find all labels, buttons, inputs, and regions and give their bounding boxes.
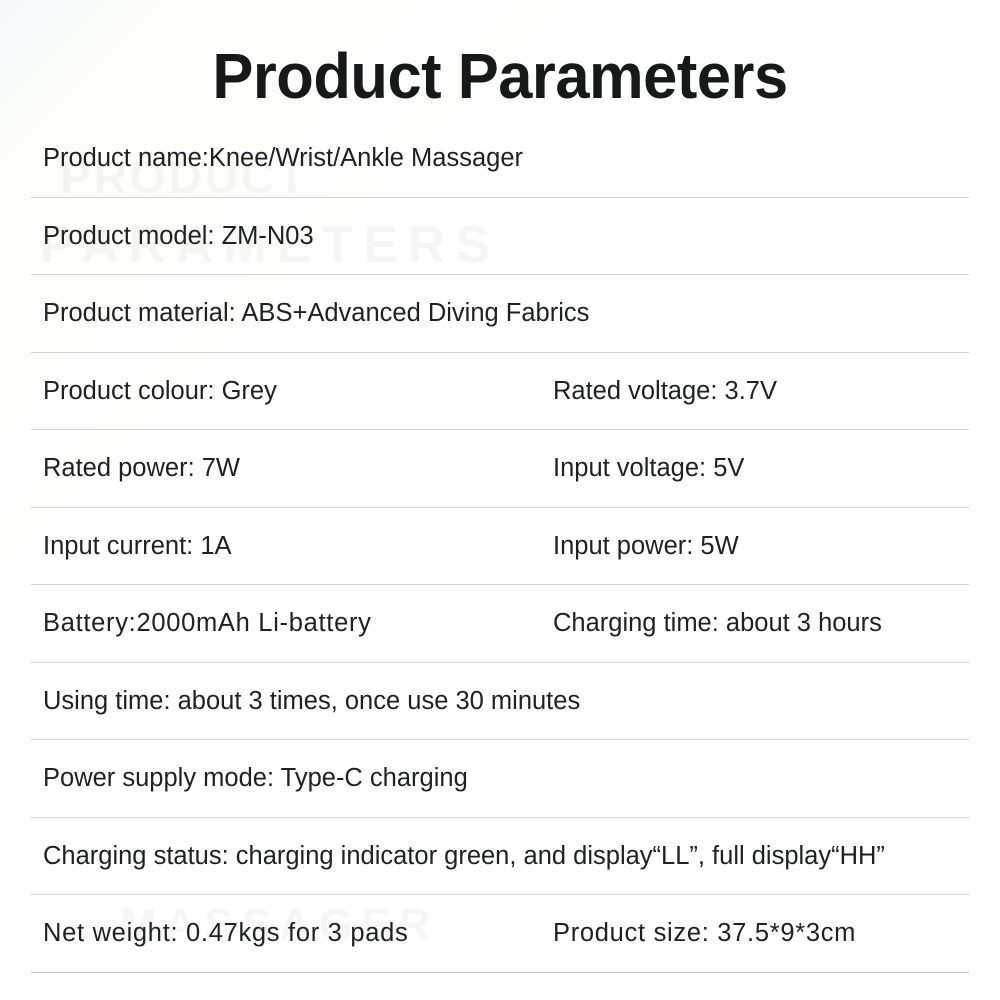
table-row: Rated power: 7W Input voltage: 5V xyxy=(31,430,969,508)
table-row: Product name:Knee/Wrist/Ankle Massager xyxy=(31,120,969,198)
spec-input-power: Input power: 5W xyxy=(553,531,739,561)
spec-product-model: Product model: ZM-N03 xyxy=(43,221,314,251)
spec-product-size: Product size: 37.5*9*3cm xyxy=(553,918,856,948)
table-row: Product model: ZM-N03 xyxy=(31,198,969,276)
spec-battery: Battery:2000mAh Li-battery xyxy=(43,608,372,638)
spec-charging-time: Charging time: about 3 hours xyxy=(553,608,882,638)
spec-power-supply-mode: Power supply mode: Type-C charging xyxy=(43,763,468,793)
spec-using-time: Using time: about 3 times, once use 30 m… xyxy=(43,686,580,716)
product-parameters-page: PRODUCT PARAMETERS MASSAGER Product Para… xyxy=(0,0,1000,1000)
spec-net-weight: Net weight: 0.47kgs for 3 pads xyxy=(43,918,408,948)
spec-rated-power: Rated power: 7W xyxy=(43,453,240,483)
table-row: Input current: 1A Input power: 5W xyxy=(31,508,969,586)
spec-product-colour: Product colour: Grey xyxy=(43,376,277,406)
table-row: Net weight: 0.47kgs for 3 pads Product s… xyxy=(31,895,969,973)
spec-charging-status: Charging status: charging indicator gree… xyxy=(43,841,885,871)
spec-input-current: Input current: 1A xyxy=(43,531,232,561)
table-row: Battery:2000mAh Li-battery Charging time… xyxy=(31,585,969,663)
table-row: Charging status: charging indicator gree… xyxy=(31,818,969,896)
table-row: Product colour: Grey Rated voltage: 3.7V xyxy=(31,353,969,431)
spec-table: Product name:Knee/Wrist/Ankle Massager P… xyxy=(31,120,969,973)
spec-product-material: Product material: ABS+Advanced Diving Fa… xyxy=(43,298,589,328)
page-title: Product Parameters xyxy=(20,40,980,112)
spec-rated-voltage: Rated voltage: 3.7V xyxy=(553,376,777,406)
table-row: Product material: ABS+Advanced Diving Fa… xyxy=(31,275,969,353)
spec-product-name: Product name:Knee/Wrist/Ankle Massager xyxy=(43,143,523,173)
spec-input-voltage: Input voltage: 5V xyxy=(553,453,744,483)
table-row: Using time: about 3 times, once use 30 m… xyxy=(31,663,969,741)
table-row: Power supply mode: Type-C charging xyxy=(31,740,969,818)
